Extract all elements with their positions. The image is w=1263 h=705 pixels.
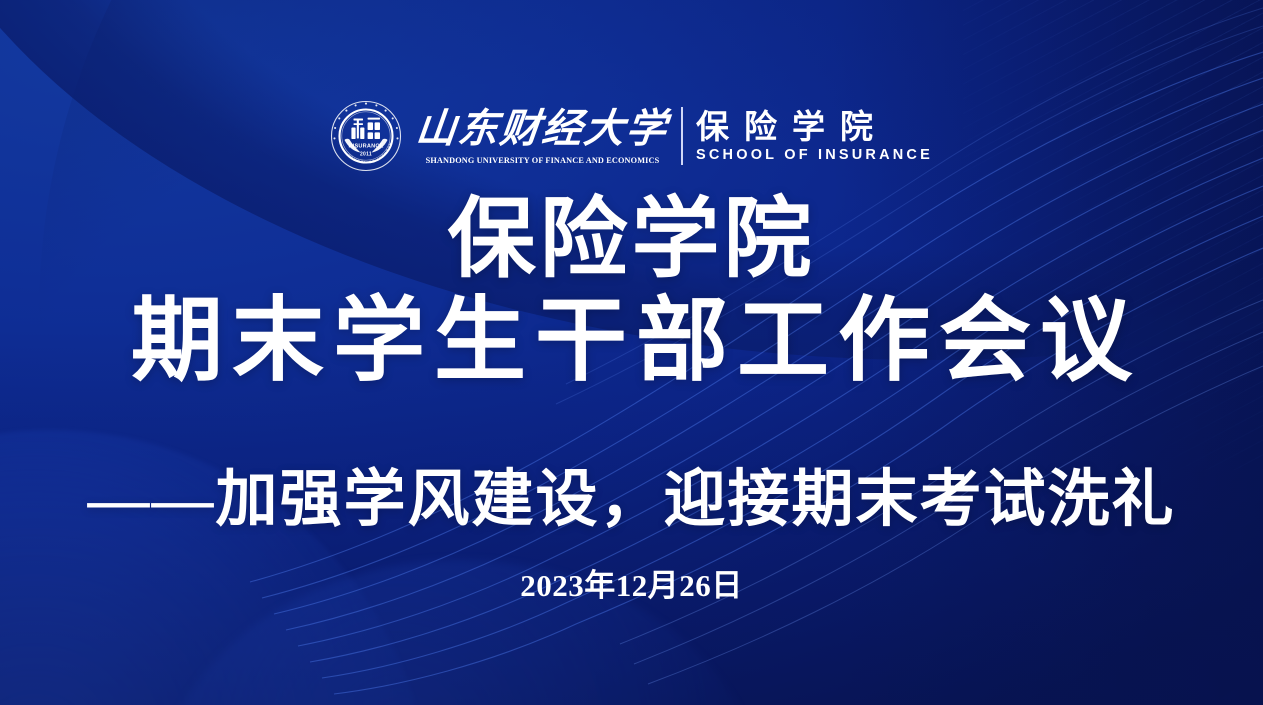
subtitle: ——加强学风建设，迎接期末考试洗礼 (0, 448, 1263, 538)
school-name-block: 保险学院 SCHOOL OF INSURANCE (696, 109, 933, 164)
date-label: 2023年12月26日 (0, 560, 1263, 605)
logo-lockup: INSURANCE 2011 SCHOOL OF INSURANCE 山东财经大… (0, 100, 1263, 172)
university-name-block: 山东财经大学 SHANDONG UNIVERSITY OF FINANCE AN… (416, 108, 681, 165)
title-line-1: 保险学院 (0, 196, 1263, 286)
slide-content: INSURANCE 2011 SCHOOL OF INSURANCE 山东财经大… (0, 0, 1263, 705)
university-name-cn: 山东财经大学 (414, 108, 670, 150)
main-title: 保险学院 期末学生干部工作会议 (0, 196, 1263, 391)
svg-text:2011: 2011 (360, 152, 372, 158)
school-name-en: SCHOOL OF INSURANCE (696, 147, 933, 163)
logo-divider (681, 107, 683, 165)
school-emblem-icon: INSURANCE 2011 SCHOOL OF INSURANCE (330, 100, 402, 172)
title-line-2: 期末学生干部工作会议 (0, 292, 1263, 391)
svg-text:INSURANCE: INSURANCE (348, 143, 383, 149)
title-slide: INSURANCE 2011 SCHOOL OF INSURANCE 山东财经大… (0, 0, 1263, 705)
university-name-en: SHANDONG UNIVERSITY OF FINANCE AND ECONO… (425, 155, 659, 165)
school-name-cn: 保险学院 (696, 109, 933, 146)
